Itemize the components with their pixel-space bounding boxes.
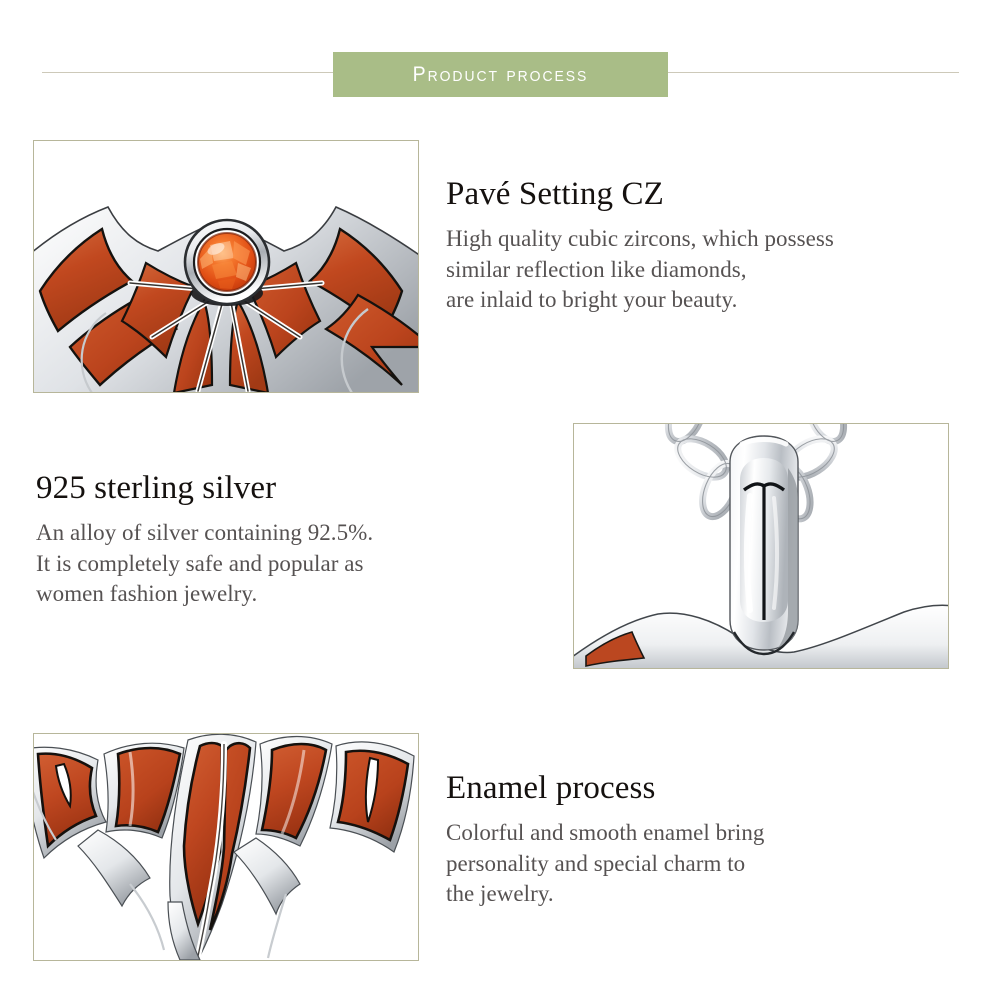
enamel-process-illustration: [34, 734, 418, 960]
feature-block-enamel: Enamel process Colorful and smooth ename…: [446, 770, 896, 910]
feature-body-line: High quality cubic zircons, which posses…: [446, 224, 966, 255]
pave-setting-illustration: [34, 141, 418, 392]
feature-body-silver: An alloy of silver containing 92.5%. It …: [36, 518, 516, 610]
product-photo-sterling-silver-bail: [573, 423, 949, 669]
feature-body-line: the jewelry.: [446, 879, 896, 910]
feature-body-line: are inlaid to bright your beauty.: [446, 285, 966, 316]
page-title: Product process: [413, 63, 589, 87]
feature-body-line: Colorful and smooth enamel bring: [446, 818, 896, 849]
product-photo-enamel-process: [33, 733, 419, 961]
product-photo-pave-setting: [33, 140, 419, 393]
feature-body-pave: High quality cubic zircons, which posses…: [446, 224, 966, 316]
feature-heading-silver: 925 sterling silver: [36, 470, 516, 506]
feature-body-enamel: Colorful and smooth enamel bring persona…: [446, 818, 896, 910]
feature-body-line: It is completely safe and popular as: [36, 549, 516, 580]
feature-heading-pave: Pavé Setting CZ: [446, 176, 966, 212]
feature-block-pave: Pavé Setting CZ High quality cubic zirco…: [446, 176, 966, 316]
feature-heading-enamel: Enamel process: [446, 770, 896, 806]
feature-body-line: An alloy of silver containing 92.5%.: [36, 518, 516, 549]
section-title-banner: Product process: [333, 52, 668, 97]
page-header: Product process: [0, 0, 1001, 110]
feature-body-line: similar reflection like diamonds,: [446, 255, 966, 286]
feature-body-line: personality and special charm to: [446, 849, 896, 880]
bail-and-chain-illustration: [574, 424, 948, 668]
feature-body-line: women fashion jewelry.: [36, 579, 516, 610]
feature-block-silver: 925 sterling silver An alloy of silver c…: [36, 470, 516, 610]
